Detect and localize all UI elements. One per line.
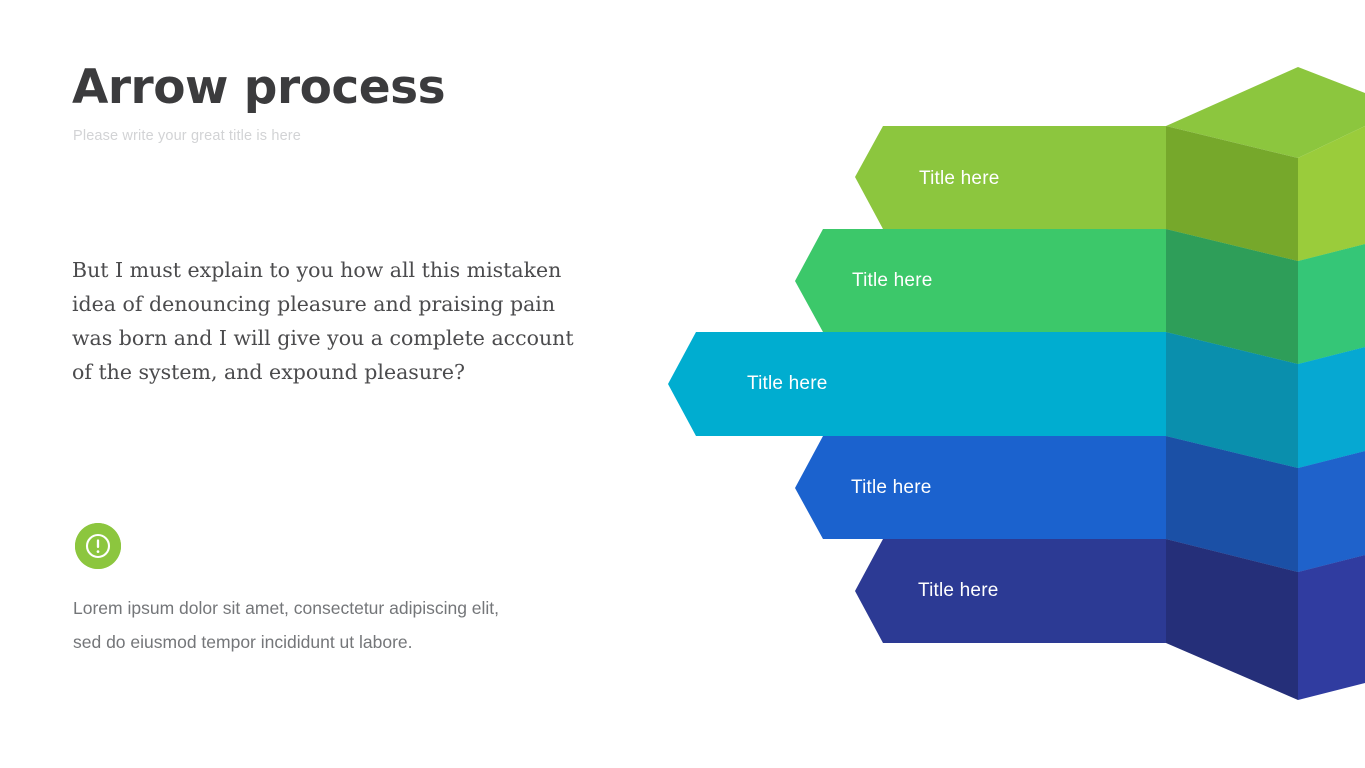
arrow-label-1: Title here: [919, 168, 1000, 190]
arrow-label-layer: Title here Title here Title here Title h…: [0, 0, 1365, 768]
arrow-label-3: Title here: [747, 373, 828, 395]
arrow-label-2: Title here: [852, 270, 933, 292]
arrow-label-5: Title here: [918, 580, 999, 602]
arrow-label-4: Title here: [851, 477, 932, 499]
slide-canvas: Arrow process Please write your great ti…: [0, 0, 1365, 768]
